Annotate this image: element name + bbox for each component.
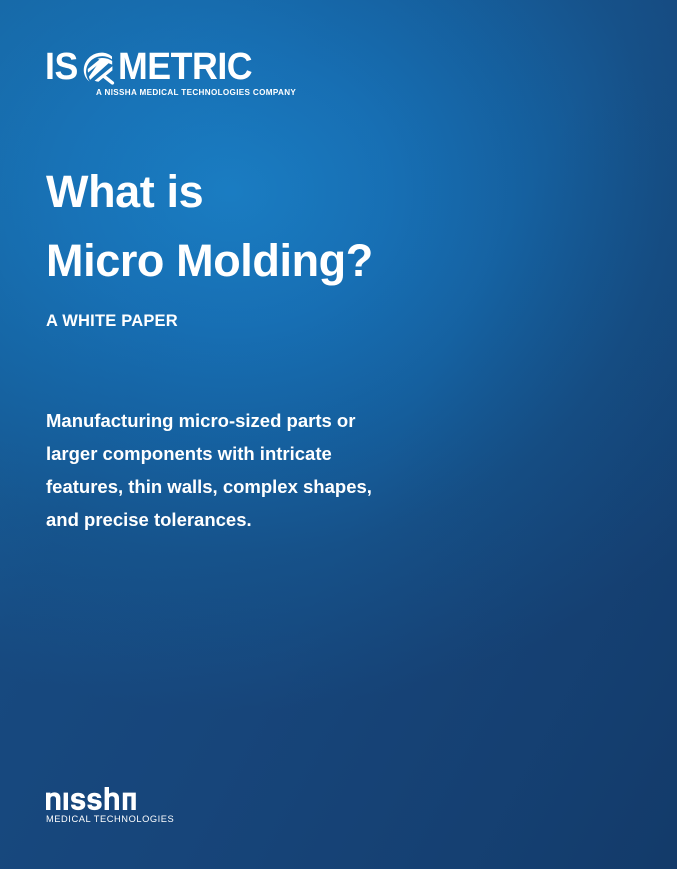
nissha-logo-subtitle: MEDICAL TECHNOLOGIES	[46, 814, 246, 824]
page-title: What is Micro Molding?	[46, 158, 466, 296]
page-title-line-1: What is	[46, 158, 466, 227]
white-paper-cover-page: IS	[0, 0, 677, 869]
page-title-line-2: Micro Molding?	[46, 227, 466, 296]
cover-content: IS	[0, 0, 677, 869]
nissha-wordmark-icon	[46, 787, 246, 811]
isometric-leaf-mark-icon	[79, 50, 119, 86]
document-subtitle: A WHITE PAPER	[46, 312, 466, 331]
isometric-brand-logo: IS	[45, 50, 277, 97]
brand-tagline: A NISSHA MEDICAL TECHNOLOGIES COMPANY	[96, 88, 275, 97]
wordmark-suffix: METRIC	[118, 48, 252, 86]
isometric-wordmark: IS	[45, 50, 277, 86]
wordmark-prefix: IS	[45, 48, 78, 86]
nissha-footer-logo: MEDICAL TECHNOLOGIES	[46, 787, 246, 824]
document-description: Manufacturing micro-sized parts or large…	[46, 404, 386, 536]
title-block: What is Micro Molding? A WHITE PAPER	[46, 158, 466, 331]
